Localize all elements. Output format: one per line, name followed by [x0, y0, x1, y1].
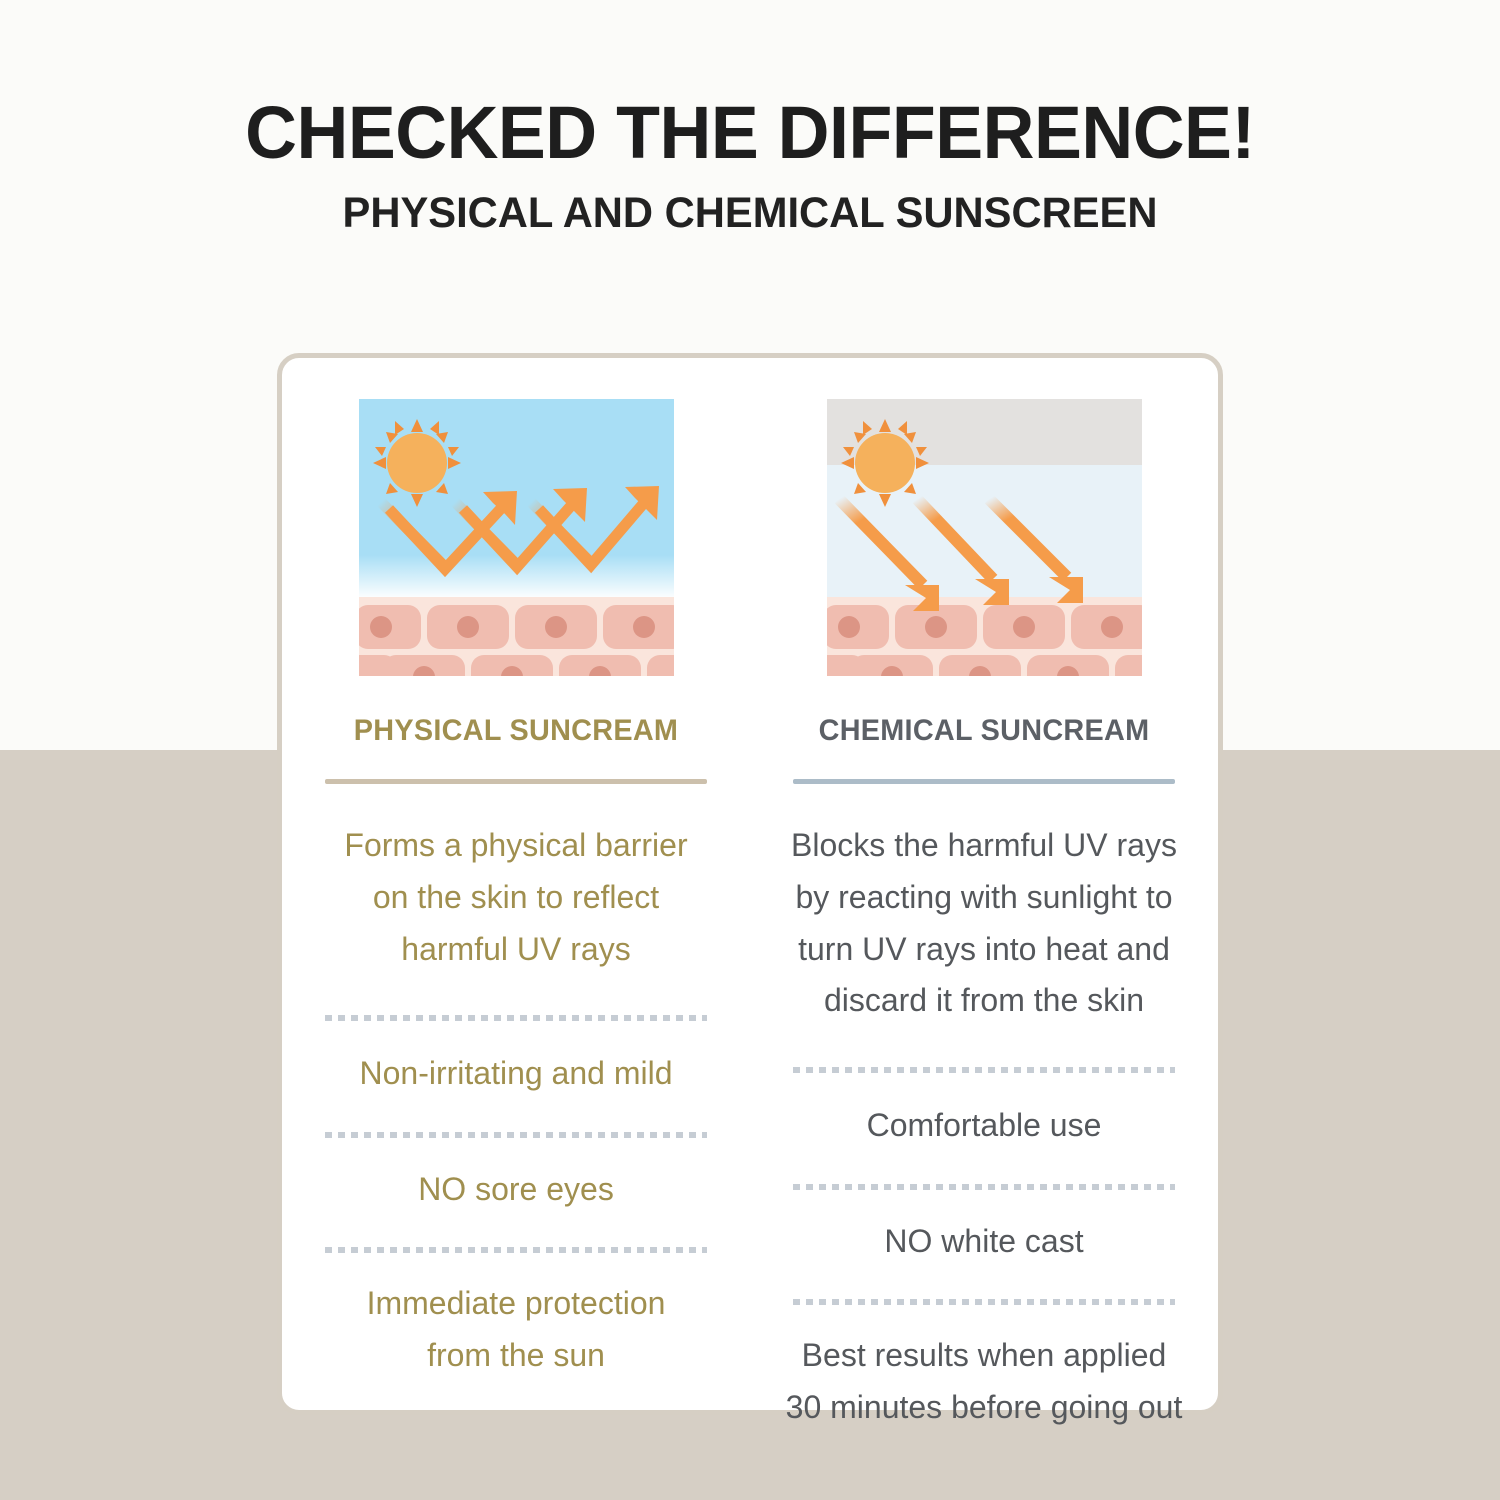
feature-item: Immediate protection from the sun — [282, 1278, 750, 1382]
feature-line: from the sun — [296, 1330, 736, 1382]
feature-line: Immediate protection — [296, 1278, 736, 1330]
dashed-divider — [793, 1067, 1175, 1073]
dashed-divider — [325, 1015, 707, 1021]
feature-line: 30 minutes before going out — [764, 1382, 1204, 1434]
page-title: CHECKED THE DIFFERENCE! — [23, 96, 1478, 170]
dashed-divider — [793, 1184, 1175, 1190]
feature-item: NO sore eyes — [282, 1164, 750, 1216]
feature-item: Blocks the harmful UV rays by reacting w… — [750, 820, 1218, 1027]
dashed-divider — [793, 1299, 1175, 1305]
feature-line: by reacting with sunlight to — [764, 872, 1204, 924]
page-subtitle: PHYSICAL AND CHEMICAL SUNSCREEN — [23, 192, 1478, 235]
feature-item: Forms a physical barrier on the skin to … — [282, 820, 750, 975]
feature-line: turn UV rays into heat and — [764, 924, 1204, 976]
comparison-columns: PHYSICAL SUNCREAM Forms a physical barri… — [282, 358, 1218, 1410]
column-header-chemical: CHEMICAL SUNCREAM — [759, 714, 1208, 748]
feature-item: Comfortable use — [750, 1100, 1218, 1152]
dashed-divider — [325, 1247, 707, 1253]
column-rule-physical — [325, 779, 707, 784]
illustration-wrap-chemical — [750, 399, 1218, 676]
physical-sunscreen-reflect-illustration — [359, 399, 674, 676]
feature-item: Best results when applied 30 minutes bef… — [750, 1330, 1218, 1434]
features-chemical: Blocks the harmful UV rays by reacting w… — [750, 820, 1218, 1434]
feature-item: NO white cast — [750, 1216, 1218, 1268]
feature-line: on the skin to reflect — [296, 872, 736, 924]
feature-line: harmful UV rays — [296, 924, 736, 976]
title-block: CHECKED THE DIFFERENCE! PHYSICAL AND CHE… — [0, 96, 1500, 235]
illustration-wrap-physical — [282, 399, 750, 676]
feature-line: Blocks the harmful UV rays — [764, 820, 1204, 872]
comparison-card: PHYSICAL SUNCREAM Forms a physical barri… — [277, 353, 1223, 1415]
feature-item: Non-irritating and mild — [282, 1048, 750, 1100]
feature-line: Best results when applied — [764, 1330, 1204, 1382]
feature-line: NO sore eyes — [296, 1164, 736, 1216]
features-physical: Forms a physical barrier on the skin to … — [282, 820, 750, 1382]
feature-line: Forms a physical barrier — [296, 820, 736, 872]
dashed-divider — [325, 1132, 707, 1138]
feature-line: NO white cast — [764, 1216, 1204, 1268]
feature-line: Comfortable use — [764, 1100, 1204, 1152]
feature-line: discard it from the skin — [764, 975, 1204, 1027]
column-header-physical: PHYSICAL SUNCREAM — [291, 714, 740, 748]
column-physical: PHYSICAL SUNCREAM Forms a physical barri… — [282, 358, 750, 1410]
column-chemical: CHEMICAL SUNCREAM Blocks the harmful UV … — [750, 358, 1218, 1410]
column-rule-chemical — [793, 779, 1175, 784]
chemical-sunscreen-absorb-illustration — [827, 399, 1142, 676]
feature-line: Non-irritating and mild — [296, 1048, 736, 1100]
